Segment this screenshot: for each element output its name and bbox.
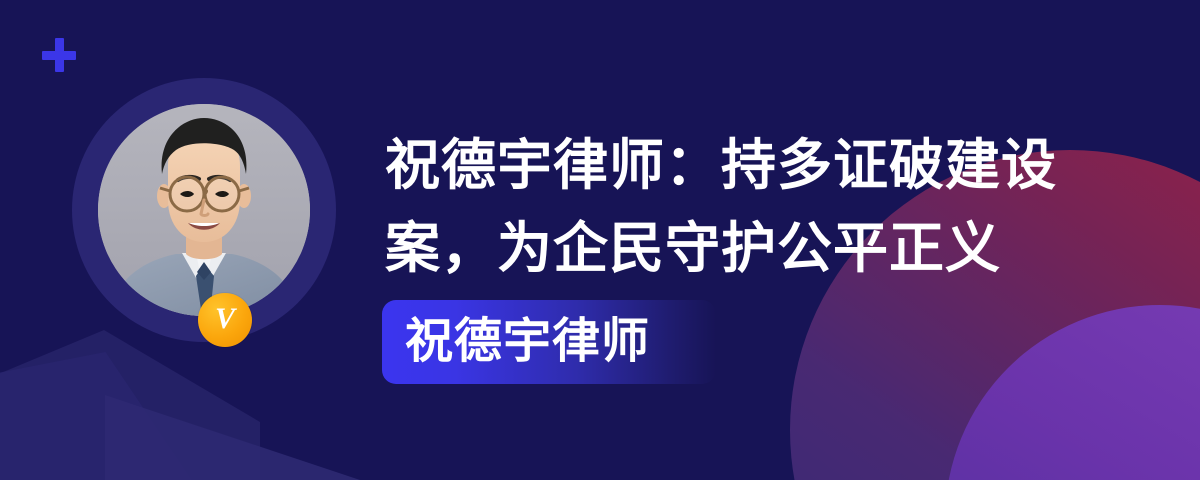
verified-badge-letter: V — [215, 304, 235, 334]
avatar-photo — [98, 104, 310, 316]
profile-banner: V 祝德宇律师：持多证破建设案，为企民守护公平正义 祝德宇律师 — [0, 0, 1200, 480]
name-pill-label: 祝德宇律师 — [405, 314, 650, 370]
page-title: 祝德宇律师：持多证破建设案，为企民守护公平正义 — [385, 124, 1065, 290]
plus-icon-vertical-bar — [55, 38, 64, 72]
plus-icon — [42, 38, 76, 72]
verified-badge-icon: V — [198, 293, 252, 347]
